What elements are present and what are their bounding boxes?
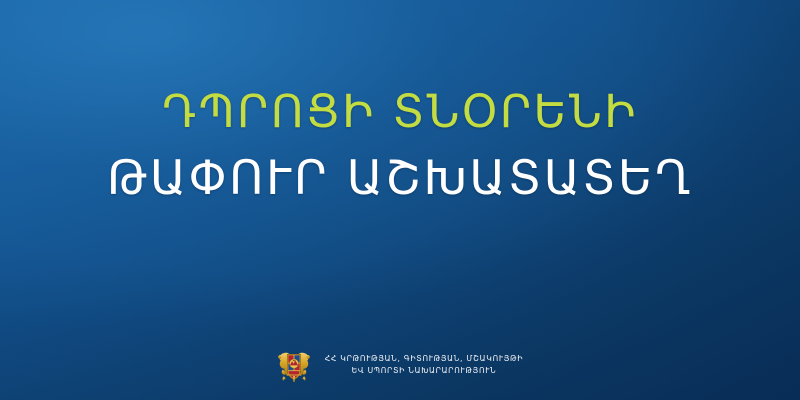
headline-line-1: ԴՊՐՈՑԻ ՏՆՕՐԵՆԻ	[162, 83, 638, 142]
armenia-coat-of-arms-icon	[277, 346, 311, 384]
headline-line-2: ԹԱՓՈՒՐ ԱՇԽԱՏԱՏԵՂ	[107, 148, 693, 209]
emblem-wrapper	[277, 346, 311, 384]
ministry-name-line-1: ՀՀ ԿՐԹՈՒԹՅԱՆ, ԳԻՏՈՒԹՅԱՆ, ՄՇԱԿՈՒՅԹԻ	[325, 353, 524, 365]
headline-block: ԴՊՐՈՑԻ ՏՆՕՐԵՆԻ ԹԱՓՈՒՐ ԱՇԽԱՏԱՏԵՂ	[0, 0, 800, 338]
ministry-name: ՀՀ ԿՐԹՈՒԹՅԱՆ, ԳԻՏՈՒԹՅԱՆ, ՄՇԱԿՈՒՅԹԻ ԵՎ ՍՊ…	[325, 353, 524, 377]
announcement-banner: ԴՊՐՈՑԻ ՏՆՕՐԵՆԻ ԹԱՓՈՒՐ ԱՇԽԱՏԱՏԵՂ	[0, 0, 800, 400]
ministry-name-line-2: ԵՎ ՍՊՈՐՏԻ ՆԱԽԱՐԱՐՈՒԹՅՈՒՆ	[352, 365, 497, 377]
banner-footer: ՀՀ ԿՐԹՈՒԹՅԱՆ, ԳԻՏՈՒԹՅԱՆ, ՄՇԱԿՈՒՅԹԻ ԵՎ ՍՊ…	[0, 338, 800, 400]
